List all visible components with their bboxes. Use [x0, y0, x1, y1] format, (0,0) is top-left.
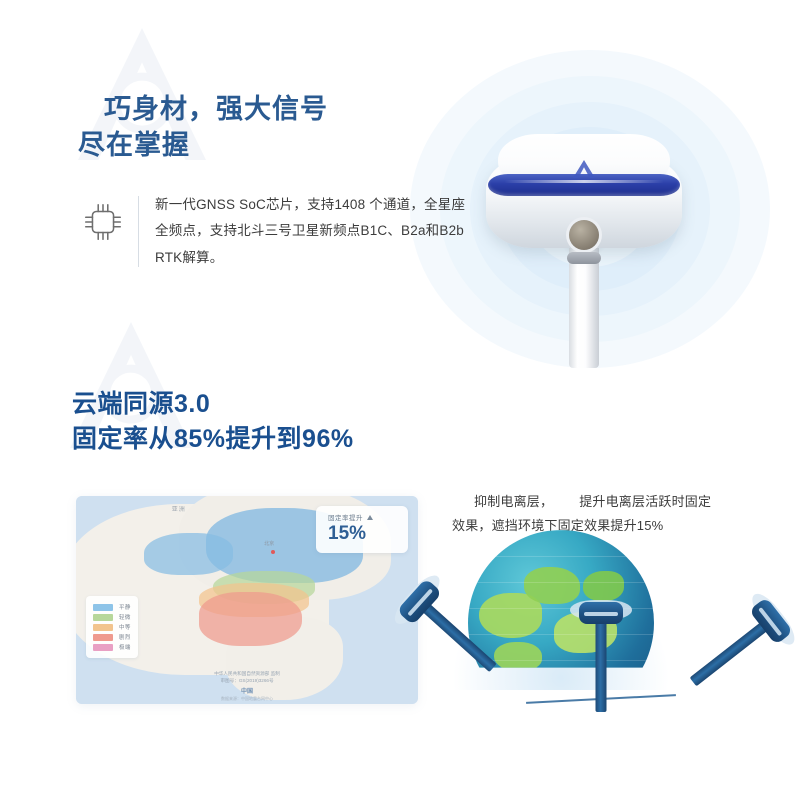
band-highlight — [504, 180, 664, 183]
legend-item: 平静 — [93, 603, 131, 611]
globe-receiver-center — [570, 600, 632, 712]
cpu-chip-icon — [80, 198, 126, 246]
map-region-label: 亚洲 — [172, 504, 186, 513]
map-footer: 中华人民共和国自然资源部 监制 审图号：GS(2019)3266号 中国 数据来… — [76, 671, 418, 702]
connector-slot — [567, 252, 601, 264]
legend-swatch — [93, 634, 113, 641]
section1-heading-line1: 巧身材，强大信号 — [104, 93, 328, 125]
legend-item: 剧烈 — [93, 633, 131, 641]
legend-item: 中等 — [93, 623, 131, 631]
legend-swatch — [93, 604, 113, 611]
legend-swatch — [93, 614, 113, 621]
arrow-up-icon — [367, 515, 373, 520]
legend-label: 剧烈 — [119, 633, 131, 641]
receiver-head-band — [584, 612, 618, 616]
badge-title-row: 固定率提升 — [328, 512, 394, 522]
receiver-pole — [690, 621, 769, 686]
note-lead: 抑制电离层， — [474, 494, 553, 509]
map-city-label: 北京 — [264, 540, 274, 547]
legend-item: 极端 — [93, 643, 131, 651]
fix-rate-badge: 固定率提升 15% — [316, 506, 408, 553]
badge-title: 固定率提升 — [328, 512, 363, 522]
ionosphere-map-card: 亚洲 北京 固定率提升 15% 平静 轻微 中等 — [76, 496, 418, 704]
badge-value: 15% — [328, 523, 394, 545]
legend-item: 轻微 — [93, 613, 131, 621]
section1-heading-line2: 尽在掌握 — [78, 129, 328, 161]
map-footer-line2: 审图号：GS(2019)3266号 — [76, 678, 418, 685]
legend-label: 极端 — [119, 643, 131, 651]
globe-receiver-right — [674, 589, 800, 707]
feature-row-chip: 新一代GNSS SoC芯片，支持1408 个通道，全星座全频点，支持北斗三号卫星… — [80, 192, 475, 271]
receiver-pole — [596, 620, 607, 712]
receiver-blue-band — [488, 174, 680, 196]
map-footer-note: 数据来源：中国地震台网中心 — [76, 696, 418, 702]
gnss-rover-receiver-image — [478, 128, 690, 368]
legend-swatch — [93, 644, 113, 651]
section1-heading: 巧身材，强大信号 尽在掌握 — [104, 93, 328, 162]
map-legend: 平静 轻微 中等 剧烈 极端 — [86, 596, 138, 658]
section2-heading-line1: 云端同源3.0 — [72, 388, 354, 420]
section2-heading-line2: 固定率从85%提升到96% — [72, 423, 354, 455]
legend-label: 轻微 — [119, 613, 131, 621]
legend-swatch — [93, 624, 113, 631]
globe-illustration — [452, 552, 752, 716]
camera-lens-icon — [569, 220, 599, 250]
legend-label: 平静 — [119, 603, 131, 611]
product-feature-page: 巧身材，强大信号 尽在掌握 — [0, 0, 800, 800]
feature-description: 新一代GNSS SoC芯片，支持1408 个通道，全星座全频点，支持北斗三号卫星… — [155, 192, 475, 271]
legend-label: 中等 — [119, 623, 131, 631]
vertical-divider — [138, 196, 139, 267]
section2-heading: 云端同源3.0 固定率从85%提升到96% — [72, 388, 354, 455]
map-zone-calm-secondary — [144, 533, 233, 575]
map-city-marker — [271, 550, 275, 554]
map-zone-severe — [199, 592, 302, 646]
map-footer-title: 中国 — [76, 686, 418, 695]
